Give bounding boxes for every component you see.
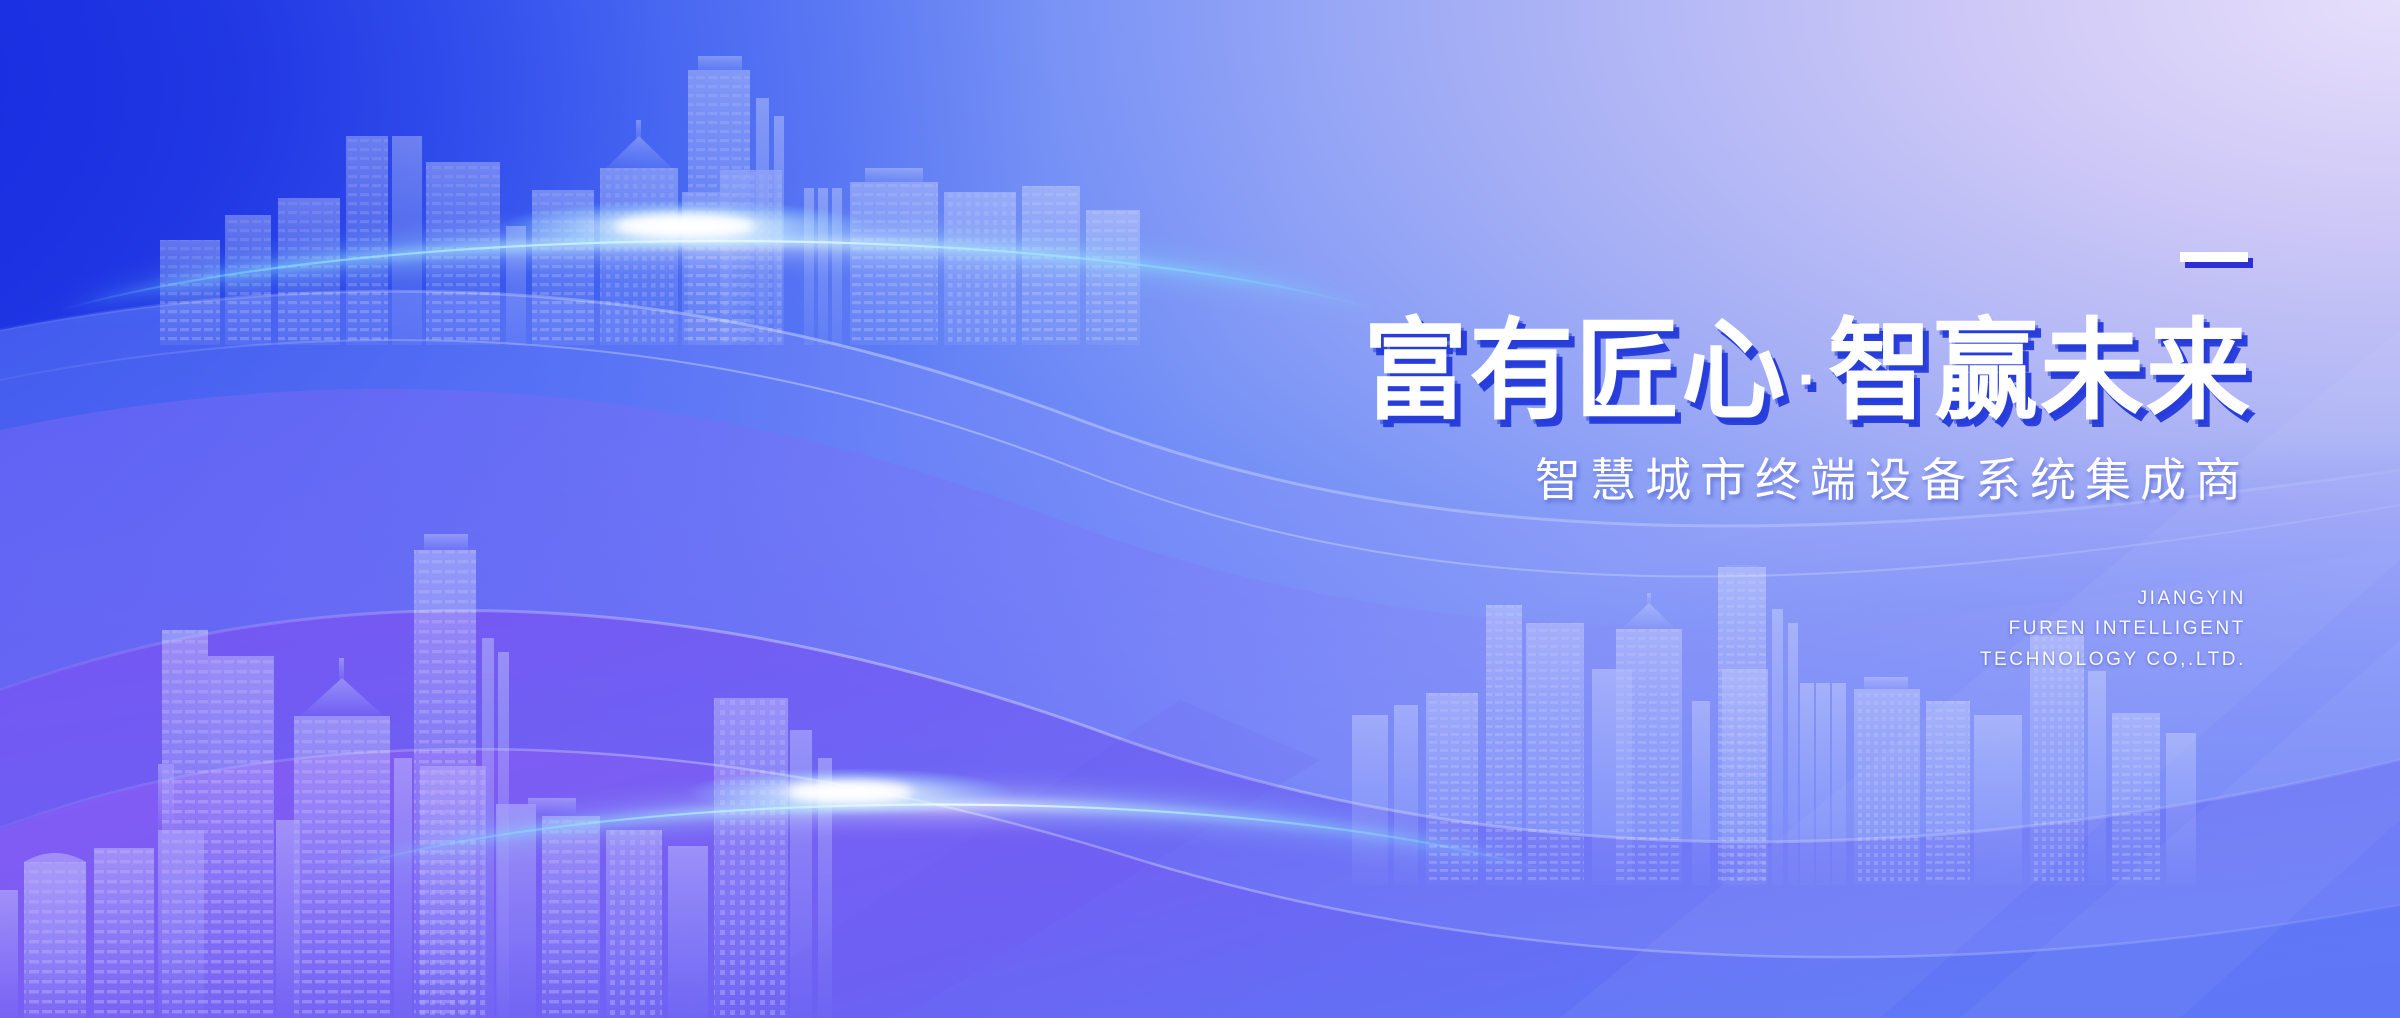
banner-canvas: 富有匠心·智赢未来 智慧城市终端设备系统集成商 JIANGYIN FUREN I… — [0, 0, 2400, 1018]
headline-separator: · — [1787, 343, 1828, 416]
city-skyline-icon — [0, 530, 890, 1018]
banner-text-block: 富有匠心·智赢未来 智慧城市终端设备系统集成商 JIANGYIN FUREN I… — [1092, 252, 2252, 676]
page-title: 富有匠心·智赢未来 — [1092, 316, 2252, 428]
accent-rule — [2180, 252, 2248, 262]
company-name-line-3: TECHNOLOGY CO,.LTD. — [1092, 645, 2246, 676]
headline-part-2: 智赢未来 — [1828, 311, 2252, 434]
page-subtitle: 智慧城市终端设备系统集成商 — [1092, 455, 2250, 506]
company-name-line-2: FUREN INTELLIGENT — [1092, 614, 2246, 645]
company-name-line-1: JIANGYIN — [1092, 584, 2246, 615]
company-name: JIANGYIN FUREN INTELLIGENT TECHNOLOGY CO… — [1092, 584, 2246, 676]
city-skyline-icon — [120, 40, 1150, 345]
headline-part-1: 富有匠心 — [1363, 311, 1787, 434]
